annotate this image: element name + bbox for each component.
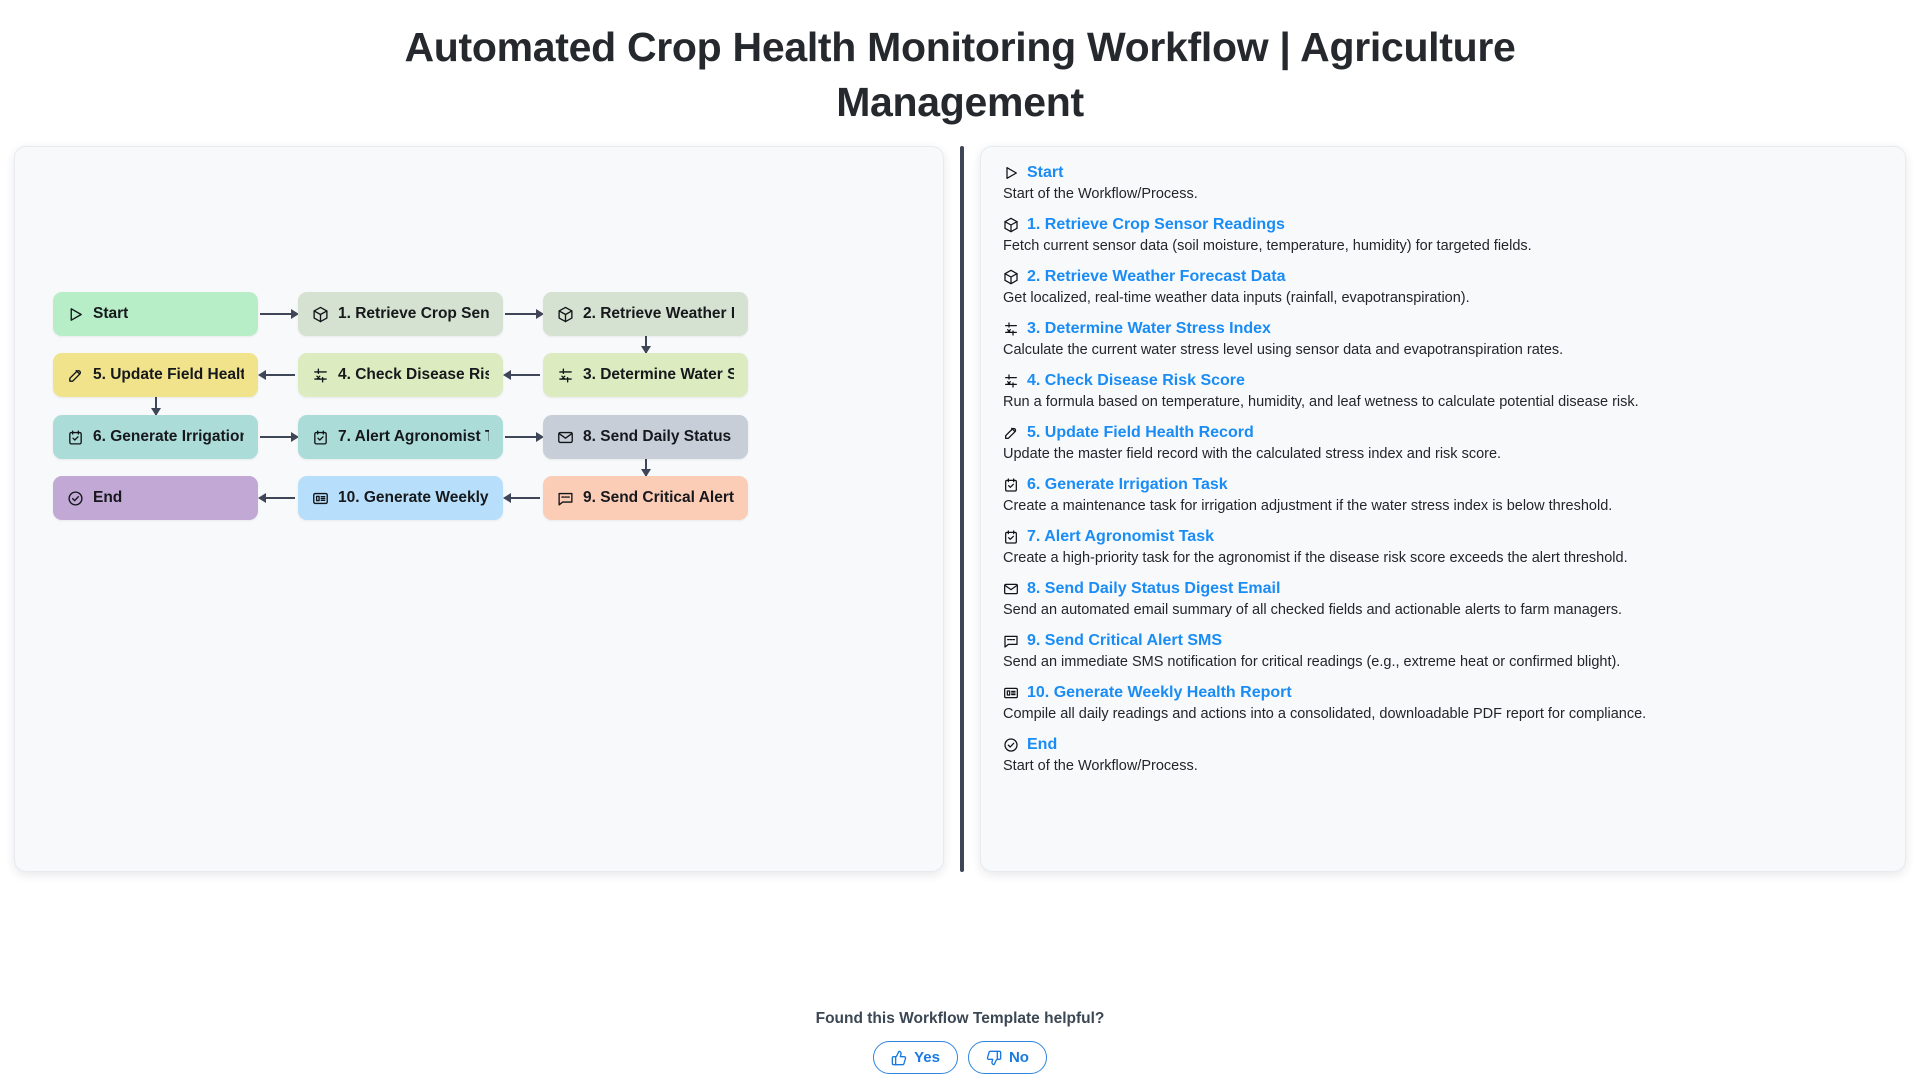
check-circle-icon xyxy=(67,490,84,507)
arrowhead-9-to-10 xyxy=(503,493,511,503)
workflow-step-description: Start of the Workflow/Process. xyxy=(1003,185,1883,204)
task-checkbox-icon xyxy=(312,429,329,446)
check-circle-icon xyxy=(1003,737,1019,753)
workflow-step-item[interactable]: 4. Check Disease Risk ScoreRun a formula… xyxy=(1003,371,1883,412)
pencil-square-icon xyxy=(67,367,84,384)
task-checkbox-icon xyxy=(1003,477,1019,493)
workflow-step-title: 7. Alert Agronomist Task xyxy=(1027,527,1214,547)
workflow-step-header[interactable]: Start xyxy=(1003,163,1883,183)
flow-node-label: 10. Generate Weekly Health xyxy=(338,489,489,507)
connector-start-to-1 xyxy=(260,313,291,315)
flow-node-n2[interactable]: 2. Retrieve Weather Foreca xyxy=(543,292,748,336)
thumbs-down-icon xyxy=(986,1050,1002,1066)
connector-3-to-4 xyxy=(507,374,540,376)
connector-4-to-5 xyxy=(262,374,295,376)
cube-icon xyxy=(557,306,574,323)
formula-icon xyxy=(312,367,329,384)
flow-node-label: 4. Check Disease Risk Sco xyxy=(338,366,489,384)
workflow-step-item[interactable]: 1. Retrieve Crop Sensor ReadingsFetch cu… xyxy=(1003,215,1883,256)
workflow-step-header[interactable]: 4. Check Disease Risk Score xyxy=(1003,371,1883,391)
workflow-steps-list: StartStart of the Workflow/Process.1. Re… xyxy=(1003,163,1883,776)
flow-node-n8[interactable]: 8. Send Daily Status Digest xyxy=(543,415,748,459)
flow-node-n6[interactable]: 6. Generate Irrigation Task xyxy=(53,415,258,459)
feedback-question: Found this Workflow Template helpful? xyxy=(0,1010,1920,1028)
workflow-step-title: 4. Check Disease Risk Score xyxy=(1027,371,1245,391)
flow-node-label: 2. Retrieve Weather Foreca xyxy=(583,305,734,323)
workflow-step-item[interactable]: 9. Send Critical Alert SMSSend an immedi… xyxy=(1003,631,1883,672)
workflow-step-description: Run a formula based on temperature, humi… xyxy=(1003,393,1883,412)
workflow-step-header[interactable]: 3. Determine Water Stress Index xyxy=(1003,319,1883,339)
workflow-step-header[interactable]: 5. Update Field Health Record xyxy=(1003,423,1883,443)
workflow-step-header[interactable]: 1. Retrieve Crop Sensor Readings xyxy=(1003,215,1883,235)
workflow-step-item[interactable]: 3. Determine Water Stress IndexCalculate… xyxy=(1003,319,1883,360)
cube-icon xyxy=(1003,269,1019,285)
workflow-step-header[interactable]: 2. Retrieve Weather Forecast Data xyxy=(1003,267,1883,287)
workflow-step-item[interactable]: 8. Send Daily Status Digest EmailSend an… xyxy=(1003,579,1883,620)
workflow-step-header[interactable]: 7. Alert Agronomist Task xyxy=(1003,527,1883,547)
arrowhead-4-to-5 xyxy=(258,370,266,380)
arrowhead-3-to-4 xyxy=(503,370,511,380)
task-checkbox-icon xyxy=(67,429,84,446)
feedback-no-button[interactable]: No xyxy=(968,1041,1047,1074)
feedback-yes-label: Yes xyxy=(914,1049,940,1066)
flow-node-n7[interactable]: 7. Alert Agronomist Task xyxy=(298,415,503,459)
feedback-no-label: No xyxy=(1009,1049,1029,1066)
workflow-step-description: Send an immediate SMS notification for c… xyxy=(1003,653,1883,672)
workflow-step-item[interactable]: 6. Generate Irrigation TaskCreate a main… xyxy=(1003,475,1883,516)
flow-node-n10[interactable]: 10. Generate Weekly Health xyxy=(298,476,503,520)
flow-node-label: End xyxy=(93,489,122,507)
flow-node-n4[interactable]: 4. Check Disease Risk Sco xyxy=(298,353,503,397)
workflow-step-item[interactable]: 7. Alert Agronomist TaskCreate a high-pr… xyxy=(1003,527,1883,568)
flow-node-label: 6. Generate Irrigation Task xyxy=(93,428,244,446)
connector-7-to-8 xyxy=(505,436,536,438)
workflow-template-page: Automated Crop Health Monitoring Workflo… xyxy=(0,0,1920,1080)
report-icon xyxy=(1003,685,1019,701)
workflow-step-item[interactable]: StartStart of the Workflow/Process. xyxy=(1003,163,1883,204)
pencil-square-icon xyxy=(1003,425,1019,441)
workflow-step-description: Start of the Workflow/Process. xyxy=(1003,757,1883,776)
envelope-icon xyxy=(557,429,574,446)
flow-node-n1[interactable]: 1. Retrieve Crop Sensor Re xyxy=(298,292,503,336)
feedback-buttons: Yes No xyxy=(0,1041,1920,1074)
flowchart-canvas: Start1. Retrieve Crop Sensor Re2. Retrie… xyxy=(15,147,943,871)
connector-6-to-7 xyxy=(260,436,291,438)
report-icon xyxy=(312,490,329,507)
workflow-step-title: 8. Send Daily Status Digest Email xyxy=(1027,579,1280,599)
workflow-step-header[interactable]: 6. Generate Irrigation Task xyxy=(1003,475,1883,495)
workflow-step-title: End xyxy=(1027,735,1057,755)
page-title: Automated Crop Health Monitoring Workflo… xyxy=(0,0,1920,130)
workflow-step-description: Compile all daily readings and actions i… xyxy=(1003,705,1883,724)
workflow-steps-panel: StartStart of the Workflow/Process.1. Re… xyxy=(980,146,1906,872)
workflow-step-description: Fetch current sensor data (soil moisture… xyxy=(1003,237,1883,256)
sms-icon xyxy=(1003,633,1019,649)
workflow-step-description: Create a maintenance task for irrigation… xyxy=(1003,497,1883,516)
flow-node-label: Start xyxy=(93,305,128,323)
thumbs-up-icon xyxy=(891,1050,907,1066)
flow-node-label: 9. Send Critical Alert SMS xyxy=(583,489,734,507)
flow-node-label: 8. Send Daily Status Digest xyxy=(583,428,734,446)
workflow-step-title: 1. Retrieve Crop Sensor Readings xyxy=(1027,215,1285,235)
workflow-step-item[interactable]: 2. Retrieve Weather Forecast DataGet loc… xyxy=(1003,267,1883,308)
workflow-step-title: 10. Generate Weekly Health Report xyxy=(1027,683,1292,703)
connector-10-to-end xyxy=(262,497,295,499)
formula-icon xyxy=(1003,373,1019,389)
main-content: Start1. Retrieve Crop Sensor Re2. Retrie… xyxy=(14,146,1906,872)
workflow-step-header[interactable]: 10. Generate Weekly Health Report xyxy=(1003,683,1883,703)
connector-1-to-2 xyxy=(505,313,536,315)
task-checkbox-icon xyxy=(1003,529,1019,545)
workflow-step-header[interactable]: 9. Send Critical Alert SMS xyxy=(1003,631,1883,651)
flow-node-label: 7. Alert Agronomist Task xyxy=(338,428,489,446)
flow-node-label: 3. Determine Water Stress xyxy=(583,366,734,384)
sms-icon xyxy=(557,490,574,507)
flow-node-start[interactable]: Start xyxy=(53,292,258,336)
panel-divider xyxy=(960,146,964,872)
workflow-step-title: 9. Send Critical Alert SMS xyxy=(1027,631,1222,651)
formula-icon xyxy=(557,367,574,384)
formula-icon xyxy=(1003,321,1019,337)
workflow-step-title: 3. Determine Water Stress Index xyxy=(1027,319,1271,339)
workflow-step-description: Get localized, real-time weather data in… xyxy=(1003,289,1883,308)
workflow-step-description: Update the master field record with the … xyxy=(1003,445,1883,464)
flow-node-label: 5. Update Field Health Rec xyxy=(93,366,244,384)
workflow-step-description: Create a high-priority task for the agro… xyxy=(1003,549,1883,568)
flowchart-panel: Start1. Retrieve Crop Sensor Re2. Retrie… xyxy=(14,146,944,872)
play-icon xyxy=(1003,165,1019,181)
flow-node-end[interactable]: End xyxy=(53,476,258,520)
workflow-step-title: 2. Retrieve Weather Forecast Data xyxy=(1027,267,1285,287)
cube-icon xyxy=(1003,217,1019,233)
arrowhead-10-to-end xyxy=(258,493,266,503)
flow-node-label: 1. Retrieve Crop Sensor Re xyxy=(338,305,489,323)
workflow-step-title: Start xyxy=(1027,163,1063,183)
workflow-step-item[interactable]: 10. Generate Weekly Health ReportCompile… xyxy=(1003,683,1883,724)
workflow-step-item[interactable]: EndStart of the Workflow/Process. xyxy=(1003,735,1883,776)
feedback-yes-button[interactable]: Yes xyxy=(873,1041,958,1074)
workflow-step-title: 5. Update Field Health Record xyxy=(1027,423,1254,443)
connector-9-to-10 xyxy=(507,497,540,499)
flow-node-n9[interactable]: 9. Send Critical Alert SMS xyxy=(543,476,748,520)
workflow-step-item[interactable]: 5. Update Field Health RecordUpdate the … xyxy=(1003,423,1883,464)
feedback-section: Found this Workflow Template helpful? Ye… xyxy=(0,1010,1920,1074)
flow-node-n5[interactable]: 5. Update Field Health Rec xyxy=(53,353,258,397)
cube-icon xyxy=(312,306,329,323)
flow-node-n3[interactable]: 3. Determine Water Stress xyxy=(543,353,748,397)
workflow-step-header[interactable]: End xyxy=(1003,735,1883,755)
envelope-icon xyxy=(1003,581,1019,597)
workflow-step-description: Send an automated email summary of all c… xyxy=(1003,601,1883,620)
workflow-step-title: 6. Generate Irrigation Task xyxy=(1027,475,1228,495)
workflow-step-description: Calculate the current water stress level… xyxy=(1003,341,1883,360)
play-icon xyxy=(67,306,84,323)
workflow-step-header[interactable]: 8. Send Daily Status Digest Email xyxy=(1003,579,1883,599)
